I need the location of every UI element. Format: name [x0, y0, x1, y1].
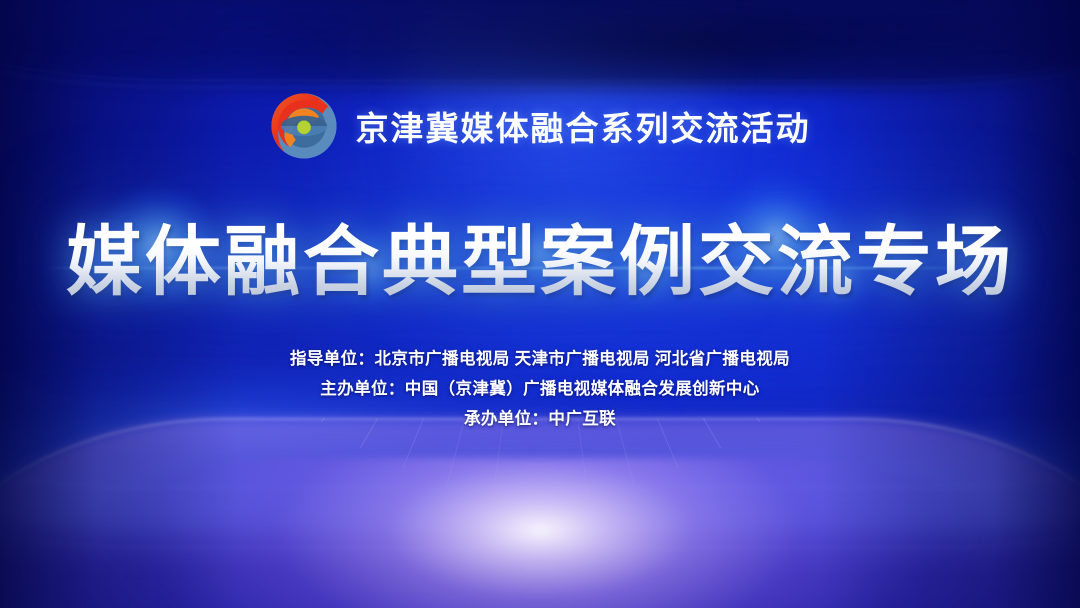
- event-logo-icon: [270, 92, 338, 160]
- poster-canvas: 京津冀媒体融合系列交流活动 媒体融合典型案例交流专场 指导单位：北京市广播电视局…: [0, 0, 1080, 608]
- organizer-banner: 京津冀媒体融合系列交流活动: [0, 92, 1080, 160]
- credits-block: 指导单位：北京市广播电视局 天津市广播电视局 河北省广播电视局主办单位：中国（京…: [0, 344, 1080, 434]
- credit-line: 承办单位：中广互联: [0, 404, 1080, 434]
- poster-content: 京津冀媒体融合系列交流活动 媒体融合典型案例交流专场 指导单位：北京市广播电视局…: [0, 0, 1080, 608]
- main-title-block: 媒体融合典型案例交流专场: [0, 200, 1080, 320]
- credit-line: 主办单位：中国（京津冀）广播电视媒体融合发展创新中心: [0, 374, 1080, 404]
- page-title: 媒体融合典型案例交流专场: [66, 200, 1014, 310]
- credit-line: 指导单位：北京市广播电视局 天津市广播电视局 河北省广播电视局: [0, 344, 1080, 374]
- organizer-title-text: 京津冀媒体融合系列交流活动: [356, 102, 811, 150]
